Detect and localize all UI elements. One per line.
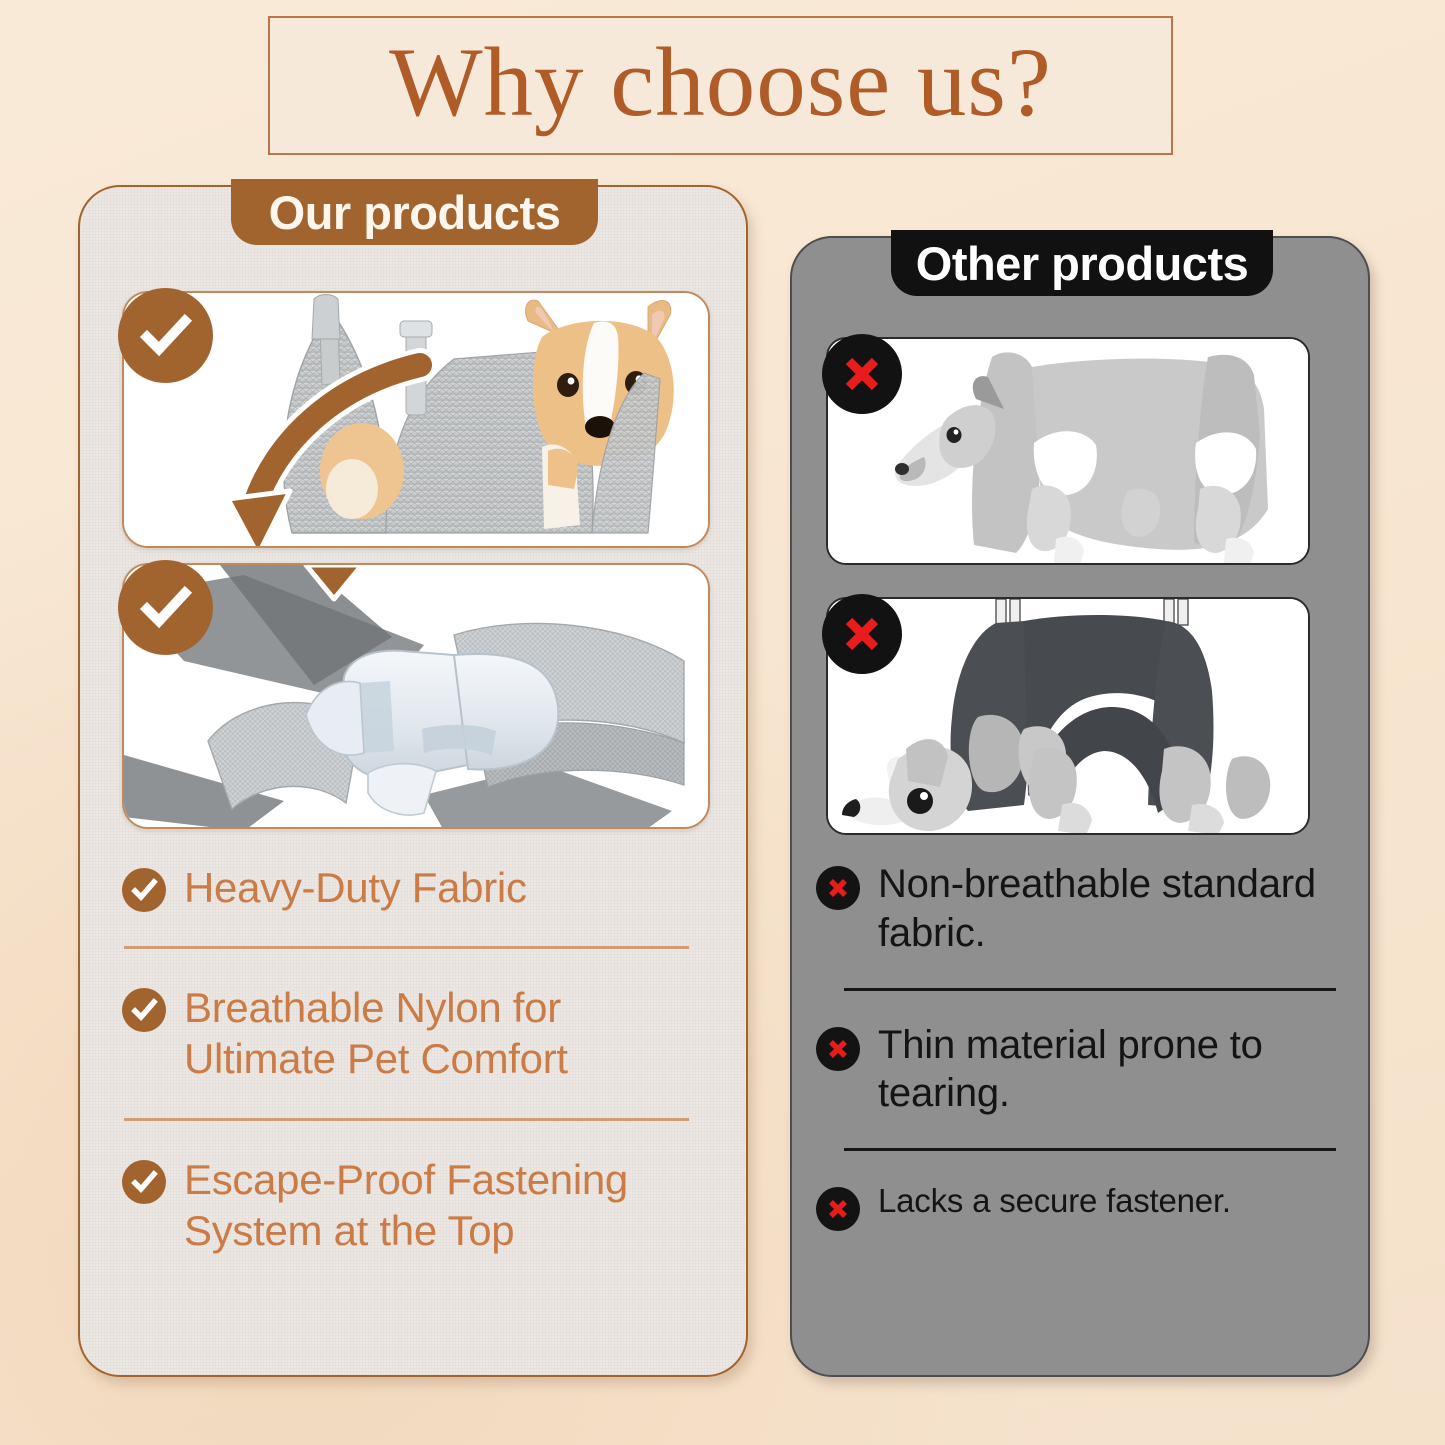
tab-our-products-label: Our products: [269, 185, 561, 240]
x-badge-photo-1: [822, 334, 902, 414]
other-drawbacks-list: Non-breathable standard fabric. Thin mat…: [816, 860, 1336, 1231]
tab-other-products[interactable]: Other products: [891, 230, 1273, 296]
x-badge-photo-2: [822, 594, 902, 674]
x-icon: [838, 350, 886, 398]
check-badge-photo-1: [118, 288, 213, 383]
our-features-list: Heavy-Duty Fabric Breathable Nylon for U…: [122, 862, 697, 1256]
check-icon: [139, 309, 193, 363]
x-icon: [838, 610, 886, 658]
x-icon: [816, 1187, 860, 1231]
drawback-item: Non-breathable standard fabric.: [816, 860, 1336, 958]
feature-item: Breathable Nylon for Ultimate Pet Comfor…: [122, 982, 697, 1084]
tab-our-products[interactable]: Our products: [231, 179, 598, 245]
feature-item: Escape-Proof Fastening System at the Top: [122, 1154, 697, 1256]
drawback-label: Lacks a secure fastener.: [878, 1181, 1231, 1221]
tab-other-products-label: Other products: [916, 236, 1248, 291]
drawback-item: Lacks a secure fastener.: [816, 1181, 1336, 1231]
x-icon: [816, 866, 860, 910]
feature-label: Heavy-Duty Fabric: [184, 862, 527, 913]
drawback-item: Thin material prone to tearing.: [816, 1021, 1336, 1119]
drawback-divider: [844, 988, 1336, 991]
check-icon: [122, 868, 166, 912]
check-icon: [139, 581, 193, 635]
x-icon: [816, 1027, 860, 1071]
feature-item: Heavy-Duty Fabric: [122, 862, 697, 913]
check-icon: [122, 1160, 166, 1204]
drawback-divider: [844, 1148, 1336, 1151]
feature-divider: [124, 946, 689, 949]
check-icon: [122, 988, 166, 1032]
drawback-label: Thin material prone to tearing.: [878, 1021, 1336, 1119]
check-badge-photo-2: [118, 560, 213, 655]
page-title-frame: Why choose us?: [268, 16, 1173, 155]
feature-label: Escape-Proof Fastening System at the Top: [184, 1154, 697, 1256]
page-title: Why choose us?: [389, 33, 1052, 132]
feature-divider: [124, 1118, 689, 1121]
infographic-page: Why choose us? Our products: [0, 0, 1445, 1445]
drawback-label: Non-breathable standard fabric.: [878, 860, 1336, 958]
feature-label: Breathable Nylon for Ultimate Pet Comfor…: [184, 982, 697, 1084]
